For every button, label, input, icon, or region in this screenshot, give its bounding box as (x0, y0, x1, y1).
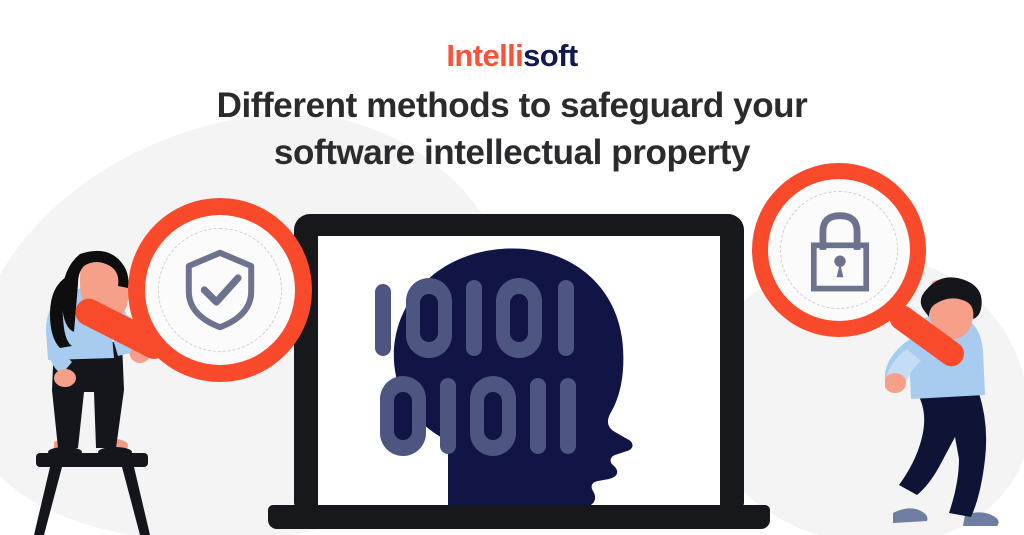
laptop-base (268, 505, 770, 529)
headline-line-1: Different methods to safeguard your (120, 82, 904, 129)
shield-check-icon (180, 248, 260, 332)
stool-icon (34, 453, 150, 535)
padlock-icon (802, 210, 878, 292)
head-silhouette-icon (318, 236, 720, 507)
logo-text-soft: soft (523, 38, 577, 73)
logo-text-intelli: Intelli (446, 38, 523, 73)
page-title: Different methods to safeguard your soft… (120, 82, 904, 176)
brand-logo: Intellisoft (0, 38, 1024, 74)
magnifier-lock (752, 163, 932, 348)
magnifier-shield (128, 198, 318, 388)
laptop-screen-content (318, 236, 720, 507)
illustration-canvas: Intellisoft Different methods to safegua… (0, 0, 1024, 535)
